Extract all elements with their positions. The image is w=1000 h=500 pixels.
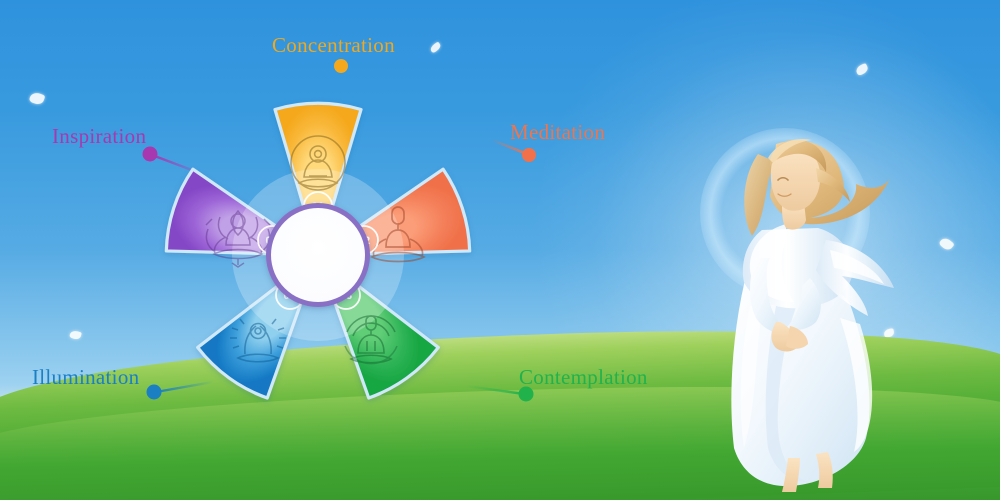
label-concentration[interactable]: Concentration: [272, 33, 395, 58]
infographic-canvas: 01 02 03 04 05: [0, 0, 1000, 500]
label-inspiration[interactable]: Inspiration: [52, 124, 146, 149]
meditation-wheel: 01 02 03 04 05: [163, 100, 473, 410]
label-contemplation[interactable]: Contemplation: [519, 365, 648, 390]
wheel-center-hub[interactable]: [266, 203, 370, 307]
label-meditation[interactable]: Meditation: [510, 120, 605, 145]
woman-figure: [690, 118, 900, 493]
label-illumination[interactable]: Illumination: [32, 365, 139, 390]
